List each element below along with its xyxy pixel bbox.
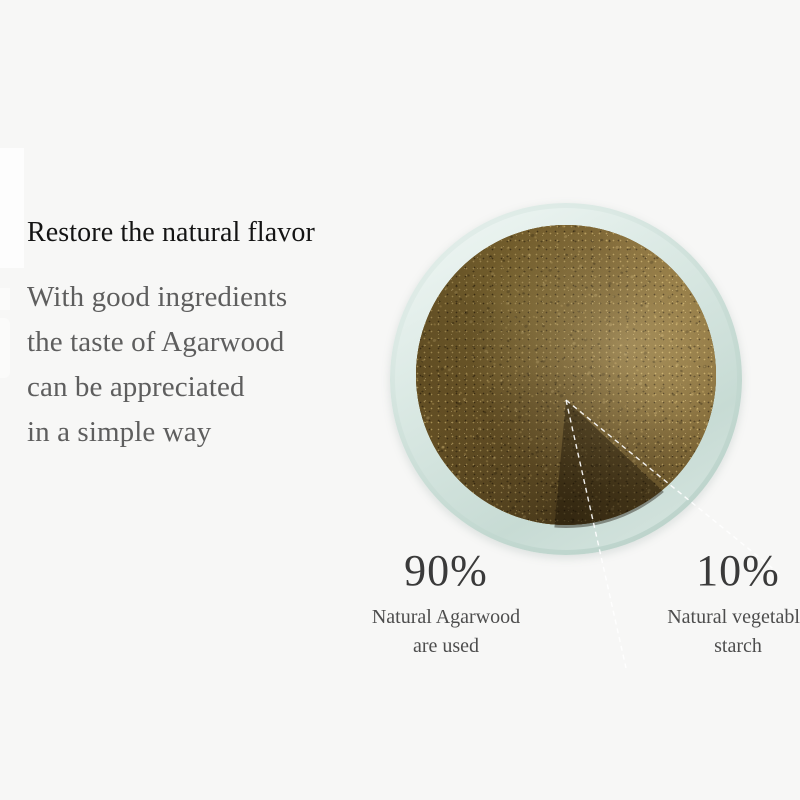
infographic-canvas: Restore the natural flavor With good ing… <box>0 0 800 800</box>
subcopy-line-3: can be appreciated <box>27 365 427 410</box>
left-edge-highlight-band-2 <box>0 288 10 310</box>
left-edge-highlight-band-3 <box>0 318 10 378</box>
stat-description-line-2: starch <box>608 632 800 661</box>
stat-description-line-2: are used <box>306 632 586 661</box>
stat-vegetable-starch: 10% Natural vegetable starch <box>608 545 800 661</box>
powder-shading <box>416 225 716 525</box>
agarwood-bowl-image <box>390 203 742 555</box>
left-edge-highlight-band <box>0 148 24 268</box>
stat-percent-value: 10% <box>608 545 800 597</box>
stat-percent-value: 90% <box>306 545 586 597</box>
stat-description-line-1: Natural Agarwood <box>306 603 586 632</box>
subcopy-paragraph: With good ingredients the taste of Agarw… <box>27 275 427 455</box>
stat-description: Natural vegetable starch <box>608 603 800 661</box>
stat-natural-agarwood: 90% Natural Agarwood are used <box>306 545 586 661</box>
bowl-powder-area <box>416 225 716 525</box>
copy-block: Restore the natural flavor With good ing… <box>27 215 427 455</box>
page-title: Restore the natural flavor <box>27 215 427 251</box>
subcopy-line-2: the taste of Agarwood <box>27 320 427 365</box>
stat-description: Natural Agarwood are used <box>306 603 586 661</box>
subcopy-line-1: With good ingredients <box>27 275 427 320</box>
stat-description-line-1: Natural vegetable <box>608 603 800 632</box>
subcopy-line-4: in a simple way <box>27 410 427 455</box>
